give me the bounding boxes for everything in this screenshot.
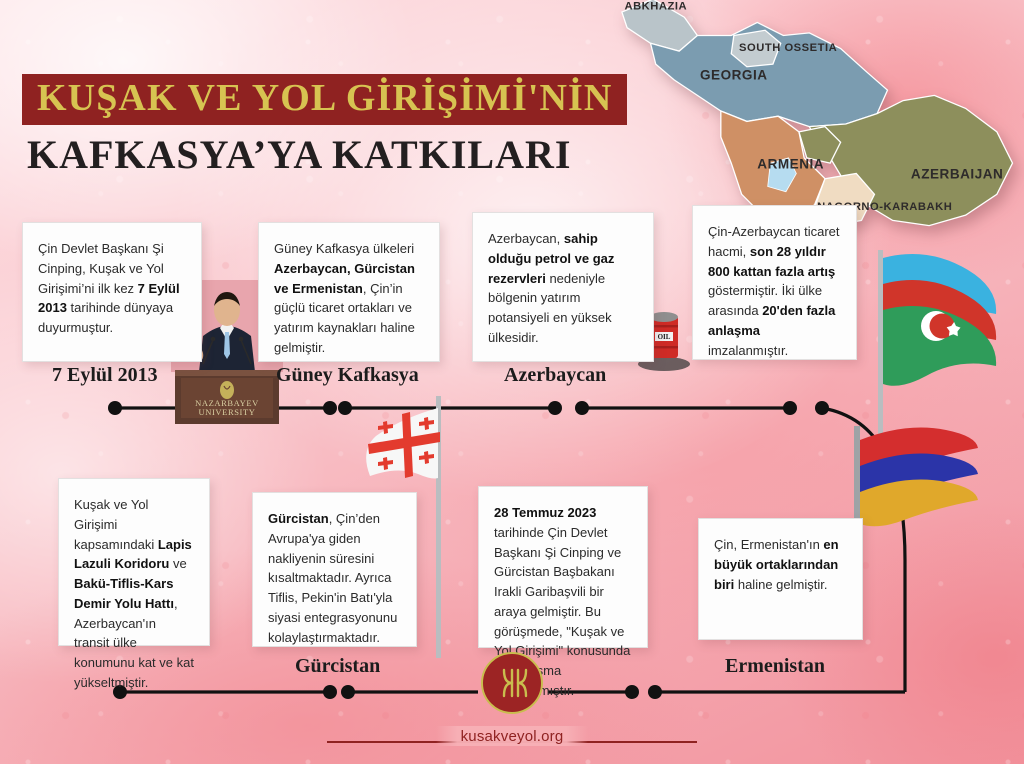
- card-text-bold: Bakü-Tiflis-Kars Demir Yolu Hattı: [74, 576, 174, 611]
- card-text: Kuşak ve Yol Girişimi kapsamındaki: [74, 497, 158, 552]
- era-guney-kafkasya: Güney Kafkasya: [276, 364, 419, 387]
- title-line-2: KAFKASYA’YA KATKILARI: [27, 134, 662, 176]
- card-lapis-lazuli: Kuşak ve Yol Girişimi kapsamındaki Lapis…: [58, 478, 210, 646]
- azerbaijan-flag: [848, 248, 1008, 438]
- page-title: KUŞAK VE YOL GİRİŞİMİ'NİN KAFKASYA’YA KA…: [22, 74, 662, 176]
- card-text: haline gelmiştir.: [734, 577, 827, 592]
- card-text: ve: [169, 556, 186, 571]
- kusakveyol-logo[interactable]: [481, 652, 543, 714]
- map-label-georgia: GEORGIA: [700, 68, 768, 83]
- card-azerbaycan: Azerbaycan, sahip olduğu petrol ve gaz r…: [472, 212, 654, 362]
- card-7-eylul-2013: Çin Devlet Başkanı Şi Cinping, Kuşak ve …: [22, 222, 202, 362]
- card-text-bold: 28 Temmuz 2023: [494, 505, 596, 520]
- map-label-south-ossetia: SOUTH OSSETIA: [739, 42, 837, 54]
- card-gurcistan: Gürcistan, Çin’den Avrupa'ya giden nakli…: [252, 492, 417, 647]
- barrel-label-right: OIL: [658, 333, 671, 341]
- caucasus-map: ABKHAZIA SOUTH OSSETIA GEORGIA ARMENIA A…: [610, 0, 1024, 236]
- card-text: Çin, Ermenistan'ın: [714, 537, 823, 552]
- card-text-bold: Gürcistan: [268, 511, 329, 526]
- podium-line-2: UNIVERSITY: [199, 407, 256, 417]
- card-cin-azerbaycan-ticaret: Çin-Azerbaycan ticaret hacmi, son 28 yıl…: [692, 205, 857, 360]
- map-label-azerbaijan: AZERBAIJAN: [911, 167, 1003, 182]
- title-line-1: KUŞAK VE YOL GİRİŞİMİ'NİN: [22, 74, 627, 125]
- footer: kusakveyol.org: [0, 652, 1024, 748]
- map-label-armenia: ARMENIA: [757, 156, 824, 171]
- card-text: imzalanmıştır.: [708, 343, 788, 358]
- card-text: , Çin’den Avrupa'ya giden nakliyenin sür…: [268, 511, 397, 645]
- card-ermenistan: Çin, Ermenistan'ın en büyük ortaklarında…: [698, 518, 863, 640]
- card-text: Güney Kafkasya ülkeleri: [274, 241, 414, 256]
- map-label-abkhazia: ABKHAZIA: [624, 0, 687, 12]
- era-7-eylul-2013: 7 Eylül 2013: [52, 364, 158, 387]
- logo-monogram-icon: [492, 663, 532, 703]
- era-azerbaycan: Azerbaycan: [504, 364, 606, 387]
- card-text: Azerbaycan,: [488, 231, 564, 246]
- card-guney-kafkasya: Güney Kafkasya ülkeleri Azerbaycan, Gürc…: [258, 222, 440, 362]
- footer-url[interactable]: kusakveyol.org: [452, 728, 573, 745]
- card-28-temmuz-2023: 28 Temmuz 2023 tarihinde Çin Devlet Başk…: [478, 486, 648, 648]
